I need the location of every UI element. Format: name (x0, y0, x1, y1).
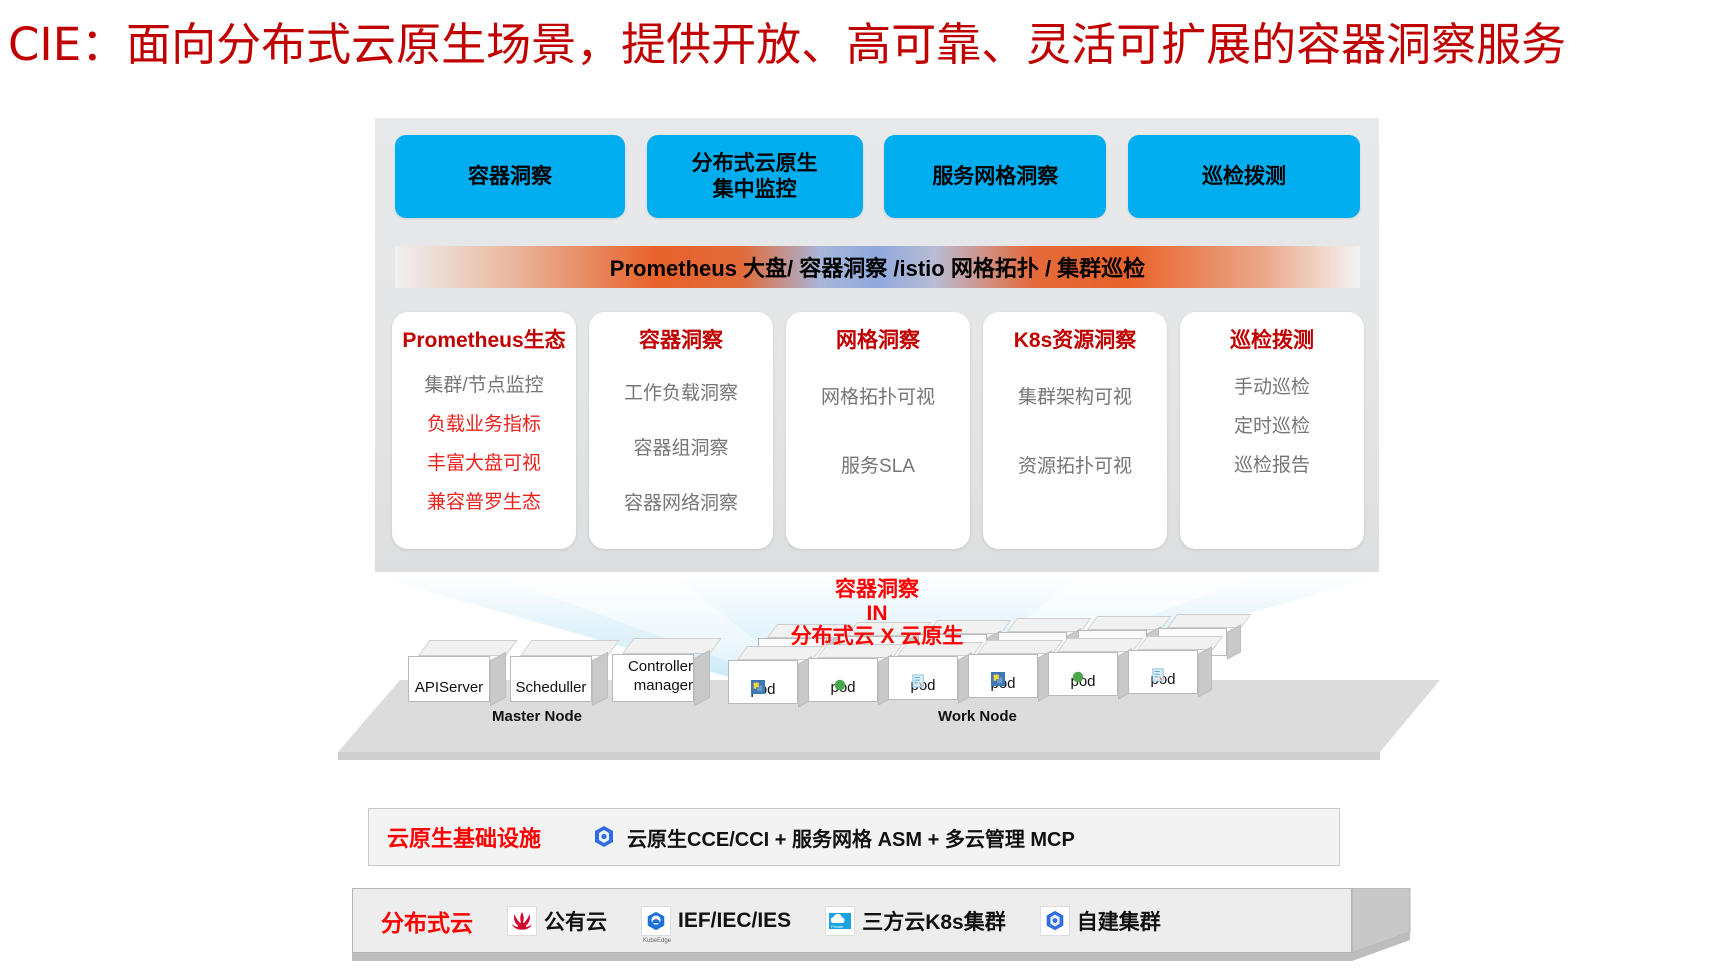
card-title: 网格洞察 (836, 324, 920, 354)
card-k8s-resource-insight[interactable]: K8s资源洞察 集群架构可视 资源拓扑可视 (983, 312, 1167, 549)
distributed-cloud-label: 分布式云 (381, 904, 473, 938)
card-title: Prometheus生态 (402, 324, 565, 354)
python-icon (991, 671, 1005, 687)
card-item: 资源拓扑可视 (1018, 451, 1132, 478)
card-container-insight[interactable]: 容器洞察 工作负载洞察 容器组洞察 容器网络洞察 (589, 312, 773, 549)
cloud-item-self-built-cluster[interactable]: 自建集群 (1040, 906, 1161, 936)
pod-box[interactable]: pod (808, 644, 892, 702)
beam-line-3: 分布式云 X 云原生 (375, 625, 1379, 649)
btn-service-mesh-insight[interactable]: 服务网格洞察 (884, 135, 1106, 218)
pod-box[interactable]: pod (728, 646, 812, 704)
card-item: 负载业务指标 (427, 409, 541, 436)
card-item: 容器组洞察 (633, 433, 728, 460)
cloud-icon: Private (825, 906, 855, 936)
master-box-label: APIServer (415, 680, 483, 702)
beam-line-1: 容器洞察 (375, 578, 1379, 602)
card-item: 巡检报告 (1234, 450, 1310, 477)
master-box-label: Scheduller (516, 680, 587, 702)
pod-box[interactable]: pod (888, 642, 972, 700)
cloud-item-third-party-k8s[interactable]: Private 三方云K8s集群 (825, 906, 1006, 936)
card-title: 巡检拨测 (1230, 324, 1314, 354)
card-item: 定时巡检 (1234, 411, 1310, 438)
infrastructure-text: 云原生CCE/CCI + 服务网格 ASM + 多云管理 MCP (627, 823, 1075, 852)
card-item: 容器网络洞察 (624, 488, 738, 515)
cloud-item-label: 三方云K8s集群 (862, 906, 1006, 936)
infrastructure-bar: 云原生基础设施 云原生CCE/CCI + 服务网格 ASM + 多云管理 MCP (368, 808, 1340, 866)
infrastructure-label: 云原生基础设施 (387, 821, 541, 853)
btn-inspection-dialtest-label: 巡检拨测 (1202, 164, 1286, 190)
cloud-item-public-cloud[interactable]: 公有云 (507, 906, 607, 936)
cloud-item-label: 自建集群 (1077, 906, 1161, 936)
master-box-apiserver[interactable]: APIServer (408, 640, 500, 702)
work-node-label: Work Node (938, 708, 1017, 725)
card-item: 集群架构可视 (1018, 382, 1132, 409)
btn-distributed-cloud-native-monitoring[interactable]: 分布式云原生 集中监控 (647, 135, 863, 218)
node-platform: APIServer Scheduller Controller manager … (330, 640, 1450, 750)
distributed-cloud-bar: 分布式云 公有云 KubeEdge IEF/IEC/IES (352, 888, 1352, 953)
kubernetes-icon (1040, 906, 1070, 936)
card-title: 容器洞察 (639, 324, 723, 354)
master-box-label-line1: Controller (628, 659, 693, 679)
btn-inspection-dialtest[interactable]: 巡检拨测 (1128, 135, 1360, 218)
beam-caption: 容器洞察 IN 分布式云 X 云原生 (375, 578, 1379, 649)
cloud-item-label: IEF/IEC/IES (678, 909, 791, 933)
card-prometheus-ecosystem[interactable]: Prometheus生态 集群/节点监控 负载业务指标 丰富大盘可视 兼容普罗生… (392, 312, 576, 549)
cloud-item-ief-iec-ies[interactable]: KubeEdge IEF/IEC/IES (641, 906, 791, 936)
svg-text:Private: Private (831, 924, 844, 929)
btn-container-insight-label: 容器洞察 (468, 164, 552, 190)
card-item: 兼容普罗生态 (427, 487, 541, 514)
capability-gradient-bar-label: Prometheus 大盘/ 容器洞察 /istio 网格拓扑 / 集群巡检 (610, 251, 1145, 283)
card-item: 网格拓扑可视 (821, 382, 935, 409)
top-button-row: 容器洞察 分布式云原生 集中监控 服务网格洞察 巡检拨测 (395, 135, 1360, 218)
distributed-cloud-slab: 分布式云 公有云 KubeEdge IEF/IEC/IES (352, 888, 1352, 953)
btn-container-insight[interactable]: 容器洞察 (395, 135, 625, 218)
card-title: K8s资源洞察 (1014, 324, 1137, 354)
green-dot-icon (833, 677, 847, 693)
btn-dcn-label-line2: 集中监控 (692, 177, 818, 203)
green-dot-icon (1071, 669, 1085, 685)
kubeedge-caption: KubeEdge (638, 938, 676, 944)
card-item: 集群/节点监控 (424, 370, 543, 397)
document-icon (911, 673, 925, 689)
btn-dcn-label-line1: 分布式云原生 (692, 151, 818, 177)
card-item: 工作负载洞察 (624, 378, 738, 405)
master-box-scheduller[interactable]: Scheduller (510, 640, 602, 702)
card-inspection-dialtest[interactable]: 巡检拨测 手动巡检 定时巡检 巡检报告 (1180, 312, 1364, 549)
pod-box[interactable]: pod (968, 640, 1052, 698)
card-item: 丰富大盘可视 (427, 448, 541, 475)
huawei-logo-icon (507, 906, 537, 936)
card-item: 服务SLA (841, 451, 915, 478)
feature-card-row: Prometheus生态 集群/节点监控 负载业务指标 丰富大盘可视 兼容普罗生… (392, 312, 1364, 552)
master-node-label: Master Node (492, 708, 582, 725)
card-item: 手动巡检 (1234, 372, 1310, 399)
document-icon (1151, 667, 1165, 683)
cloud-item-label: 公有云 (544, 906, 607, 936)
beam-line-2: IN (375, 602, 1379, 626)
kubernetes-icon (591, 824, 617, 850)
master-box-label-line2: manager (634, 678, 693, 698)
btn-service-mesh-insight-label: 服务网格洞察 (932, 164, 1058, 190)
card-mesh-insight[interactable]: 网格洞察 网格拓扑可视 服务SLA (786, 312, 970, 549)
page-title: CIE：面向分布式云原生场景，提供开放、高可靠、灵活可扩展的容器洞察服务 (8, 8, 1728, 73)
capability-gradient-bar: Prometheus 大盘/ 容器洞察 /istio 网格拓扑 / 集群巡检 (395, 246, 1360, 288)
kubeedge-icon: KubeEdge (641, 906, 671, 936)
python-icon (751, 679, 765, 695)
